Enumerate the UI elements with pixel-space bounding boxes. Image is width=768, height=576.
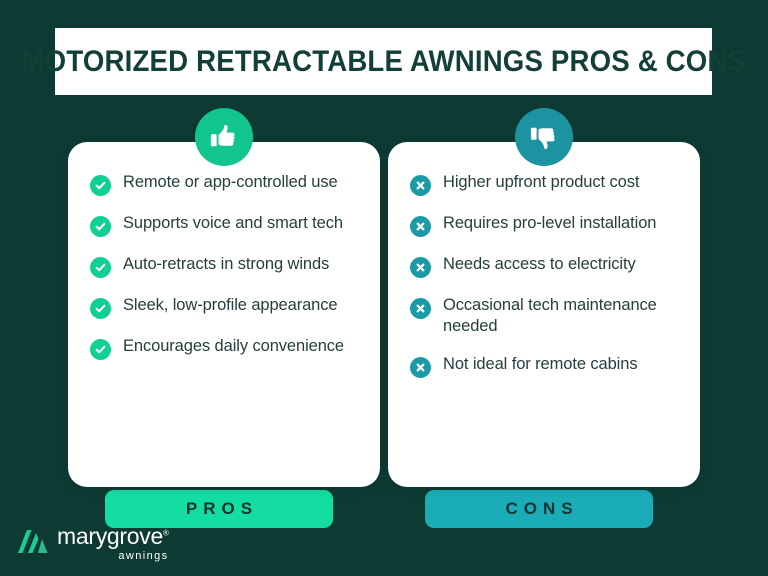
list-item-label: Higher upfront product cost	[443, 172, 639, 193]
list-item: Sleek, low-profile appearance	[90, 295, 358, 319]
page-title: Motorized Retractable Awnings Pros & Con…	[21, 45, 746, 79]
list-item-label: Needs access to electricity	[443, 254, 636, 275]
list-item: Requires pro-level installation	[410, 213, 678, 237]
x-circle-icon	[410, 298, 431, 319]
x-circle-icon	[410, 216, 431, 237]
list-item-label: Requires pro-level installation	[443, 213, 656, 234]
cons-tab[interactable]: CONS	[425, 490, 653, 528]
list-item-label: Supports voice and smart tech	[123, 213, 343, 234]
pros-card: Remote or app-controlled use Supports vo…	[68, 142, 380, 487]
list-item-label: Encourages daily convenience	[123, 336, 344, 357]
registered-mark: ®	[163, 528, 169, 537]
logo-wordmark: marygrove® awnings	[57, 525, 169, 562]
logo-tagline: awnings	[57, 551, 169, 562]
check-circle-icon	[90, 298, 111, 319]
pros-list: Remote or app-controlled use Supports vo…	[90, 172, 358, 360]
x-circle-icon	[410, 175, 431, 196]
list-item: Higher upfront product cost	[410, 172, 678, 196]
cons-column: CONS Higher upfront product cost Require…	[388, 108, 700, 528]
x-circle-icon	[410, 257, 431, 278]
list-item: Supports voice and smart tech	[90, 213, 358, 237]
check-circle-icon	[90, 175, 111, 196]
check-circle-icon	[90, 339, 111, 360]
pros-tab[interactable]: PROS	[105, 490, 333, 528]
list-item: Needs access to electricity	[410, 254, 678, 278]
cons-card: Higher upfront product cost Requires pro…	[388, 142, 700, 487]
x-circle-icon	[410, 357, 431, 378]
check-circle-icon	[90, 257, 111, 278]
list-item: Not ideal for remote cabins	[410, 354, 678, 378]
list-item-label: Auto-retracts in strong winds	[123, 254, 329, 275]
list-item: Remote or app-controlled use	[90, 172, 358, 196]
cons-list: Higher upfront product cost Requires pro…	[410, 172, 678, 378]
logo-name: marygrove®	[57, 525, 169, 548]
cons-tab-label: CONS	[499, 499, 578, 519]
list-item-label: Sleek, low-profile appearance	[123, 295, 337, 316]
pros-tab-label: PROS	[180, 499, 258, 519]
check-circle-icon	[90, 216, 111, 237]
list-item-label: Occasional tech maintenance needed	[443, 295, 678, 337]
title-banner: Motorized Retractable Awnings Pros & Con…	[55, 28, 712, 95]
list-item: Auto-retracts in strong winds	[90, 254, 358, 278]
list-item: Occasional tech maintenance needed	[410, 295, 678, 337]
marygrove-logo: marygrove® awnings	[16, 525, 169, 562]
list-item-label: Remote or app-controlled use	[123, 172, 338, 193]
thumbs-down-icon	[515, 108, 573, 166]
list-item-label: Not ideal for remote cabins	[443, 354, 637, 375]
marygrove-m-mark-icon	[16, 528, 50, 559]
list-item: Encourages daily convenience	[90, 336, 358, 360]
thumbs-up-icon	[195, 108, 253, 166]
pros-column: PROS Remote or app-controlled use Suppor…	[68, 108, 380, 528]
